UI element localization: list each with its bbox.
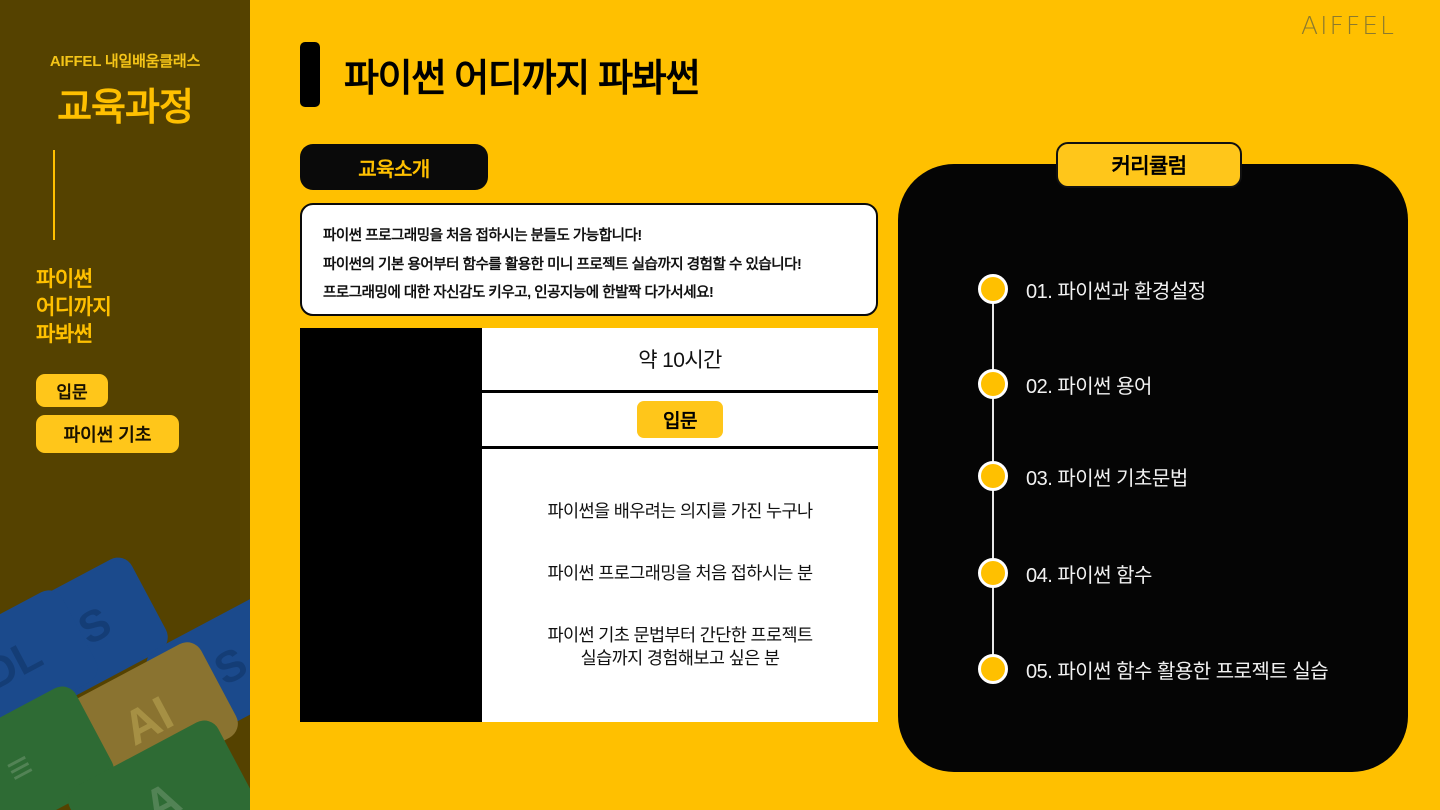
info-level-badge: 입문: [637, 401, 723, 438]
curriculum-item-01-label: 01. 파이썬과 환경설정: [1026, 275, 1206, 304]
sidebar-course-line-2: 어디까지: [36, 294, 236, 322]
timeline-dot-icon: [978, 558, 1008, 588]
info-target-item-2-line-1: 파이썬 프로그래밍을 처음 접하시는 분: [547, 562, 812, 586]
sidebar-badge-topic[interactable]: 파이썬 기초: [36, 415, 179, 453]
curriculum-item-02-label: 02. 파이썬 용어: [1026, 370, 1152, 399]
info-label-target: [300, 449, 482, 722]
intro-line-1: 파이썬 프로그래밍을 처음 접하시는 분들도 가능합니다!: [323, 222, 855, 251]
info-target-item-3-line-2: 실습까지 경험해보고 싶은 분: [547, 647, 812, 671]
intro-line-2: 파이썬의 기본 용어부터 함수를 활용한 미니 프로젝트 실습까지 경험할 수 …: [323, 251, 855, 280]
info-value-duration: 약 10시간: [482, 328, 878, 390]
curriculum-item-05-label: 05. 파이썬 함수 활용한 프로젝트 실습: [1026, 655, 1328, 684]
slide-canvas: DS DL S AI ≡ A AIFFEL 내일배움클래스 교육과정 파이썬 어…: [0, 0, 1440, 810]
tab-intro[interactable]: 교육소개: [300, 144, 488, 190]
curriculum-timeline: 01. 파이썬과 환경설정 02. 파이썬 용어 03. 파이썬 기초문법 04…: [978, 266, 1358, 686]
info-row-target: 파이썬을 배우려는 의지를 가진 누구나 파이썬 프로그래밍을 처음 접하시는 …: [482, 446, 878, 722]
sidebar-badge-level[interactable]: 입문: [36, 374, 108, 407]
sidebar-course-line-3: 파봐썬: [36, 321, 236, 349]
tab-curriculum[interactable]: 커리큘럼: [1056, 142, 1242, 188]
info-target-item-3-line-1: 파이썬 기초 문법부터 간단한 프로젝트: [547, 624, 812, 648]
sidebar-course-line-1: 파이썬: [36, 266, 236, 294]
curriculum-item-03[interactable]: 03. 파이썬 기초문법: [978, 461, 1188, 491]
sidebar: DS DL S AI ≡ A AIFFEL 내일배움클래스 교육과정 파이썬 어…: [0, 0, 250, 810]
title-accent-bar: [300, 42, 320, 107]
curriculum-item-04[interactable]: 04. 파이썬 함수: [978, 558, 1152, 588]
decor-tile-list-label: ≡: [0, 743, 41, 794]
curriculum-panel: 01. 파이썬과 환경설정 02. 파이썬 용어 03. 파이썬 기초문법 04…: [898, 164, 1408, 772]
info-target-item-3: 파이썬 기초 문법부터 간단한 프로젝트 실습까지 경험해보고 싶은 분: [547, 624, 812, 672]
info-row-level: 입문: [482, 390, 878, 446]
sidebar-title: 교육과정: [0, 76, 250, 131]
page-title-group: 파이썬 어디까지 파봐썬: [300, 42, 699, 107]
info-value-column: 약 10시간 입문 파이썬을 배우려는 의지를 가진 누구나 파이썬 프로그래밍…: [482, 328, 878, 722]
curriculum-item-05[interactable]: 05. 파이썬 함수 활용한 프로젝트 실습: [978, 654, 1328, 684]
aiffel-logo: AIFFEL: [1301, 11, 1396, 40]
info-target-item-1-line-1: 파이썬을 배우려는 의지를 가진 누구나: [547, 500, 812, 524]
curriculum-item-02[interactable]: 02. 파이썬 용어: [978, 369, 1152, 399]
decor-tile-dl-label: DL: [0, 629, 51, 701]
sidebar-course-name: 파이썬 어디까지 파봐썬: [36, 266, 236, 349]
info-label-level: [300, 390, 482, 449]
page-title: 파이썬 어디까지 파봐썬: [344, 47, 699, 102]
decor-tile-a-label: A: [135, 770, 190, 810]
course-info-table: 약 10시간 입문 파이썬을 배우려는 의지를 가진 누구나 파이썬 프로그래밍…: [300, 328, 878, 722]
timeline-dot-icon: [978, 461, 1008, 491]
sidebar-kicker: AIFFEL 내일배움클래스: [0, 50, 250, 71]
timeline-dot-icon: [978, 654, 1008, 684]
curriculum-item-01[interactable]: 01. 파이썬과 환경설정: [978, 274, 1206, 304]
info-target-item-1: 파이썬을 배우려는 의지를 가진 누구나: [547, 500, 812, 524]
curriculum-item-03-label: 03. 파이썬 기초문법: [1026, 462, 1188, 491]
info-label-column: [300, 328, 482, 722]
curriculum-item-04-label: 04. 파이썬 함수: [1026, 559, 1152, 588]
intro-description-box: 파이썬 프로그래밍을 처음 접하시는 분들도 가능합니다! 파이썬의 기본 용어…: [300, 203, 878, 316]
intro-line-3: 프로그래밍에 대한 자신감도 키우고, 인공지능에 한발짝 다가서세요!: [323, 279, 855, 308]
timeline-dot-icon: [978, 369, 1008, 399]
info-label-duration: [300, 328, 482, 390]
info-target-item-2: 파이썬 프로그래밍을 처음 접하시는 분: [547, 562, 812, 586]
sidebar-divider: [53, 150, 55, 240]
timeline-dot-icon: [978, 274, 1008, 304]
